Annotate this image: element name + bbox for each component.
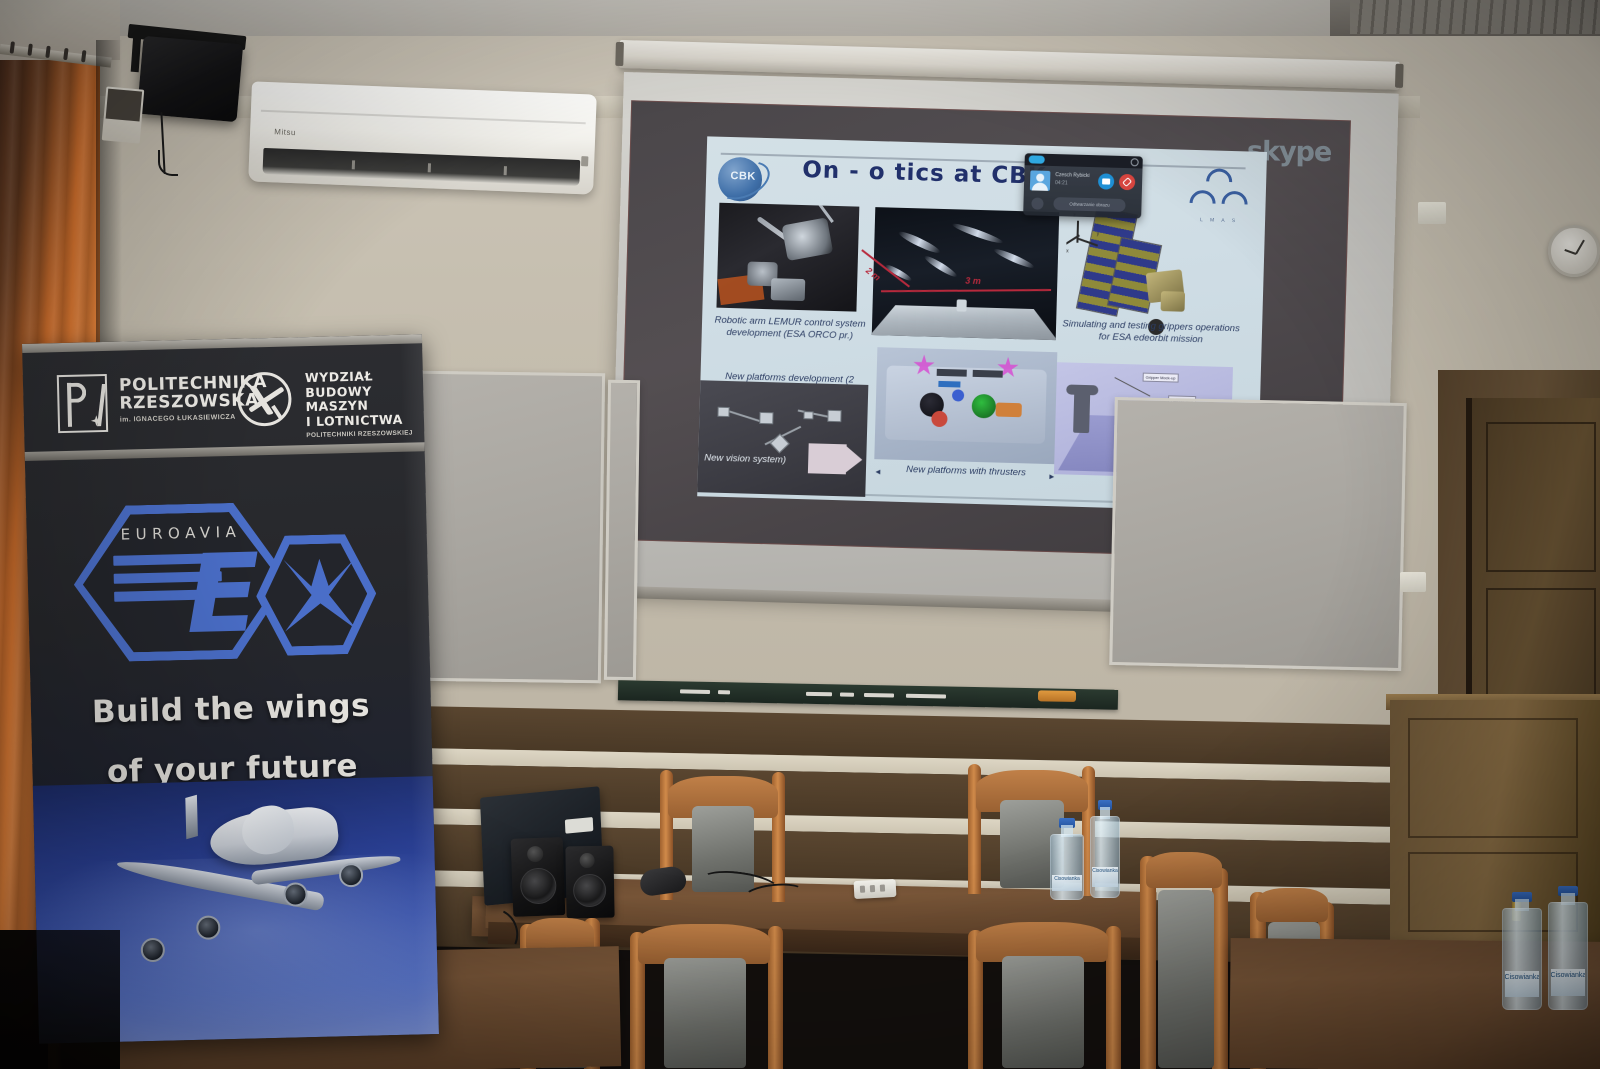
thruster-arrow-left: ◄ (874, 467, 882, 476)
end-call-button[interactable] (1119, 174, 1135, 190)
water-bottle-2: Cisowianka (1090, 800, 1120, 898)
avatar (1030, 170, 1051, 191)
caption-grippers: Simulating and testing grippers operatio… (1062, 318, 1241, 347)
desktop-speaker-left (511, 837, 566, 917)
light-switch[interactable] (1418, 202, 1446, 224)
water-bottle-4: Cisowianka (1548, 886, 1588, 1012)
whiteboard-eraser (1038, 690, 1076, 702)
skype-more-button[interactable] (1031, 197, 1043, 209)
skype-contact-name: Czesch Rybicki (1055, 172, 1089, 179)
skype-status-pill[interactable]: Odtwarzanie obrazu (1053, 197, 1125, 212)
wall-mount-plate (102, 86, 145, 143)
lecture-room-photo: Mitsu skype CBK (0, 0, 1600, 1069)
desktop-speaker-right (565, 846, 614, 919)
cbk-logo-text: CBK (723, 170, 763, 183)
skype-call-window[interactable]: Czesch Rybicki 04:21 Odtwarzanie obrazu (1023, 153, 1143, 218)
laptop-sticker (565, 817, 593, 834)
faculty-logo-icon (237, 371, 292, 426)
water-bottle-3: Cisowianka (1502, 892, 1542, 1012)
bottle-label-1: Cisowianka (1052, 875, 1081, 892)
water-bottle-1: Cisowianka (1050, 818, 1084, 900)
bottle-label-3: Cisowianka (1505, 971, 1540, 997)
caption-lemur: Robotic arm LEMUR control system develop… (714, 315, 867, 343)
slide-photo-vision-system: New vision system) (697, 380, 868, 497)
ceiling-slats (1350, 0, 1600, 34)
euroavia-e-glyph: E (185, 550, 281, 648)
esa-label-gripper: Gripper Mock-up (1143, 373, 1179, 383)
close-icon[interactable] (1131, 158, 1139, 166)
whiteboard-middle-panel (604, 380, 640, 680)
whiteboard-left (416, 371, 605, 684)
slide-photo-thruster-platform (874, 347, 1057, 464)
video-icon (1102, 178, 1110, 184)
politechnika-logo-icon (57, 374, 108, 433)
bottle-label-2: Cisowianka (1092, 867, 1118, 888)
presenter-remote[interactable] (854, 879, 897, 899)
banner-logos-row: POLITECHNIKA RZESZOWSKA im. IGNACEGO ŁUK… (22, 354, 424, 446)
cbk-logo: CBK (713, 153, 772, 207)
skype-call-timer: 04:21 (1055, 180, 1068, 186)
slide-photo-air-bearing (872, 207, 1060, 340)
ac-brand-label: Mitsu (274, 127, 296, 137)
euroavia-logo: EUROAVIA E (72, 491, 386, 669)
skype-logo-icon (1029, 155, 1045, 163)
ac-vent (262, 148, 580, 186)
ceiling-speaker (137, 36, 243, 122)
air-conditioner: Mitsu (248, 81, 597, 194)
banner-slogan-line1: Build the wings (31, 686, 432, 732)
foreground-table-right (1229, 938, 1600, 1069)
dim-label-length: 3 m (965, 276, 981, 286)
wall-socket (1400, 572, 1426, 592)
phone-icon (1122, 177, 1132, 187)
foreground-shadow (0, 930, 120, 1069)
wall-clock (1548, 225, 1600, 277)
bottle-label-4: Cisowianka (1551, 969, 1586, 997)
slide-photo-robotic-arm (716, 203, 859, 312)
whiteboard-right (1109, 397, 1407, 671)
ac-indicator (581, 156, 588, 166)
banner-divider (25, 442, 425, 461)
video-call-button[interactable] (1098, 173, 1114, 189)
skype-titlebar[interactable] (1025, 153, 1143, 168)
caption-thrusters: New platforms with thrusters (882, 463, 1050, 480)
